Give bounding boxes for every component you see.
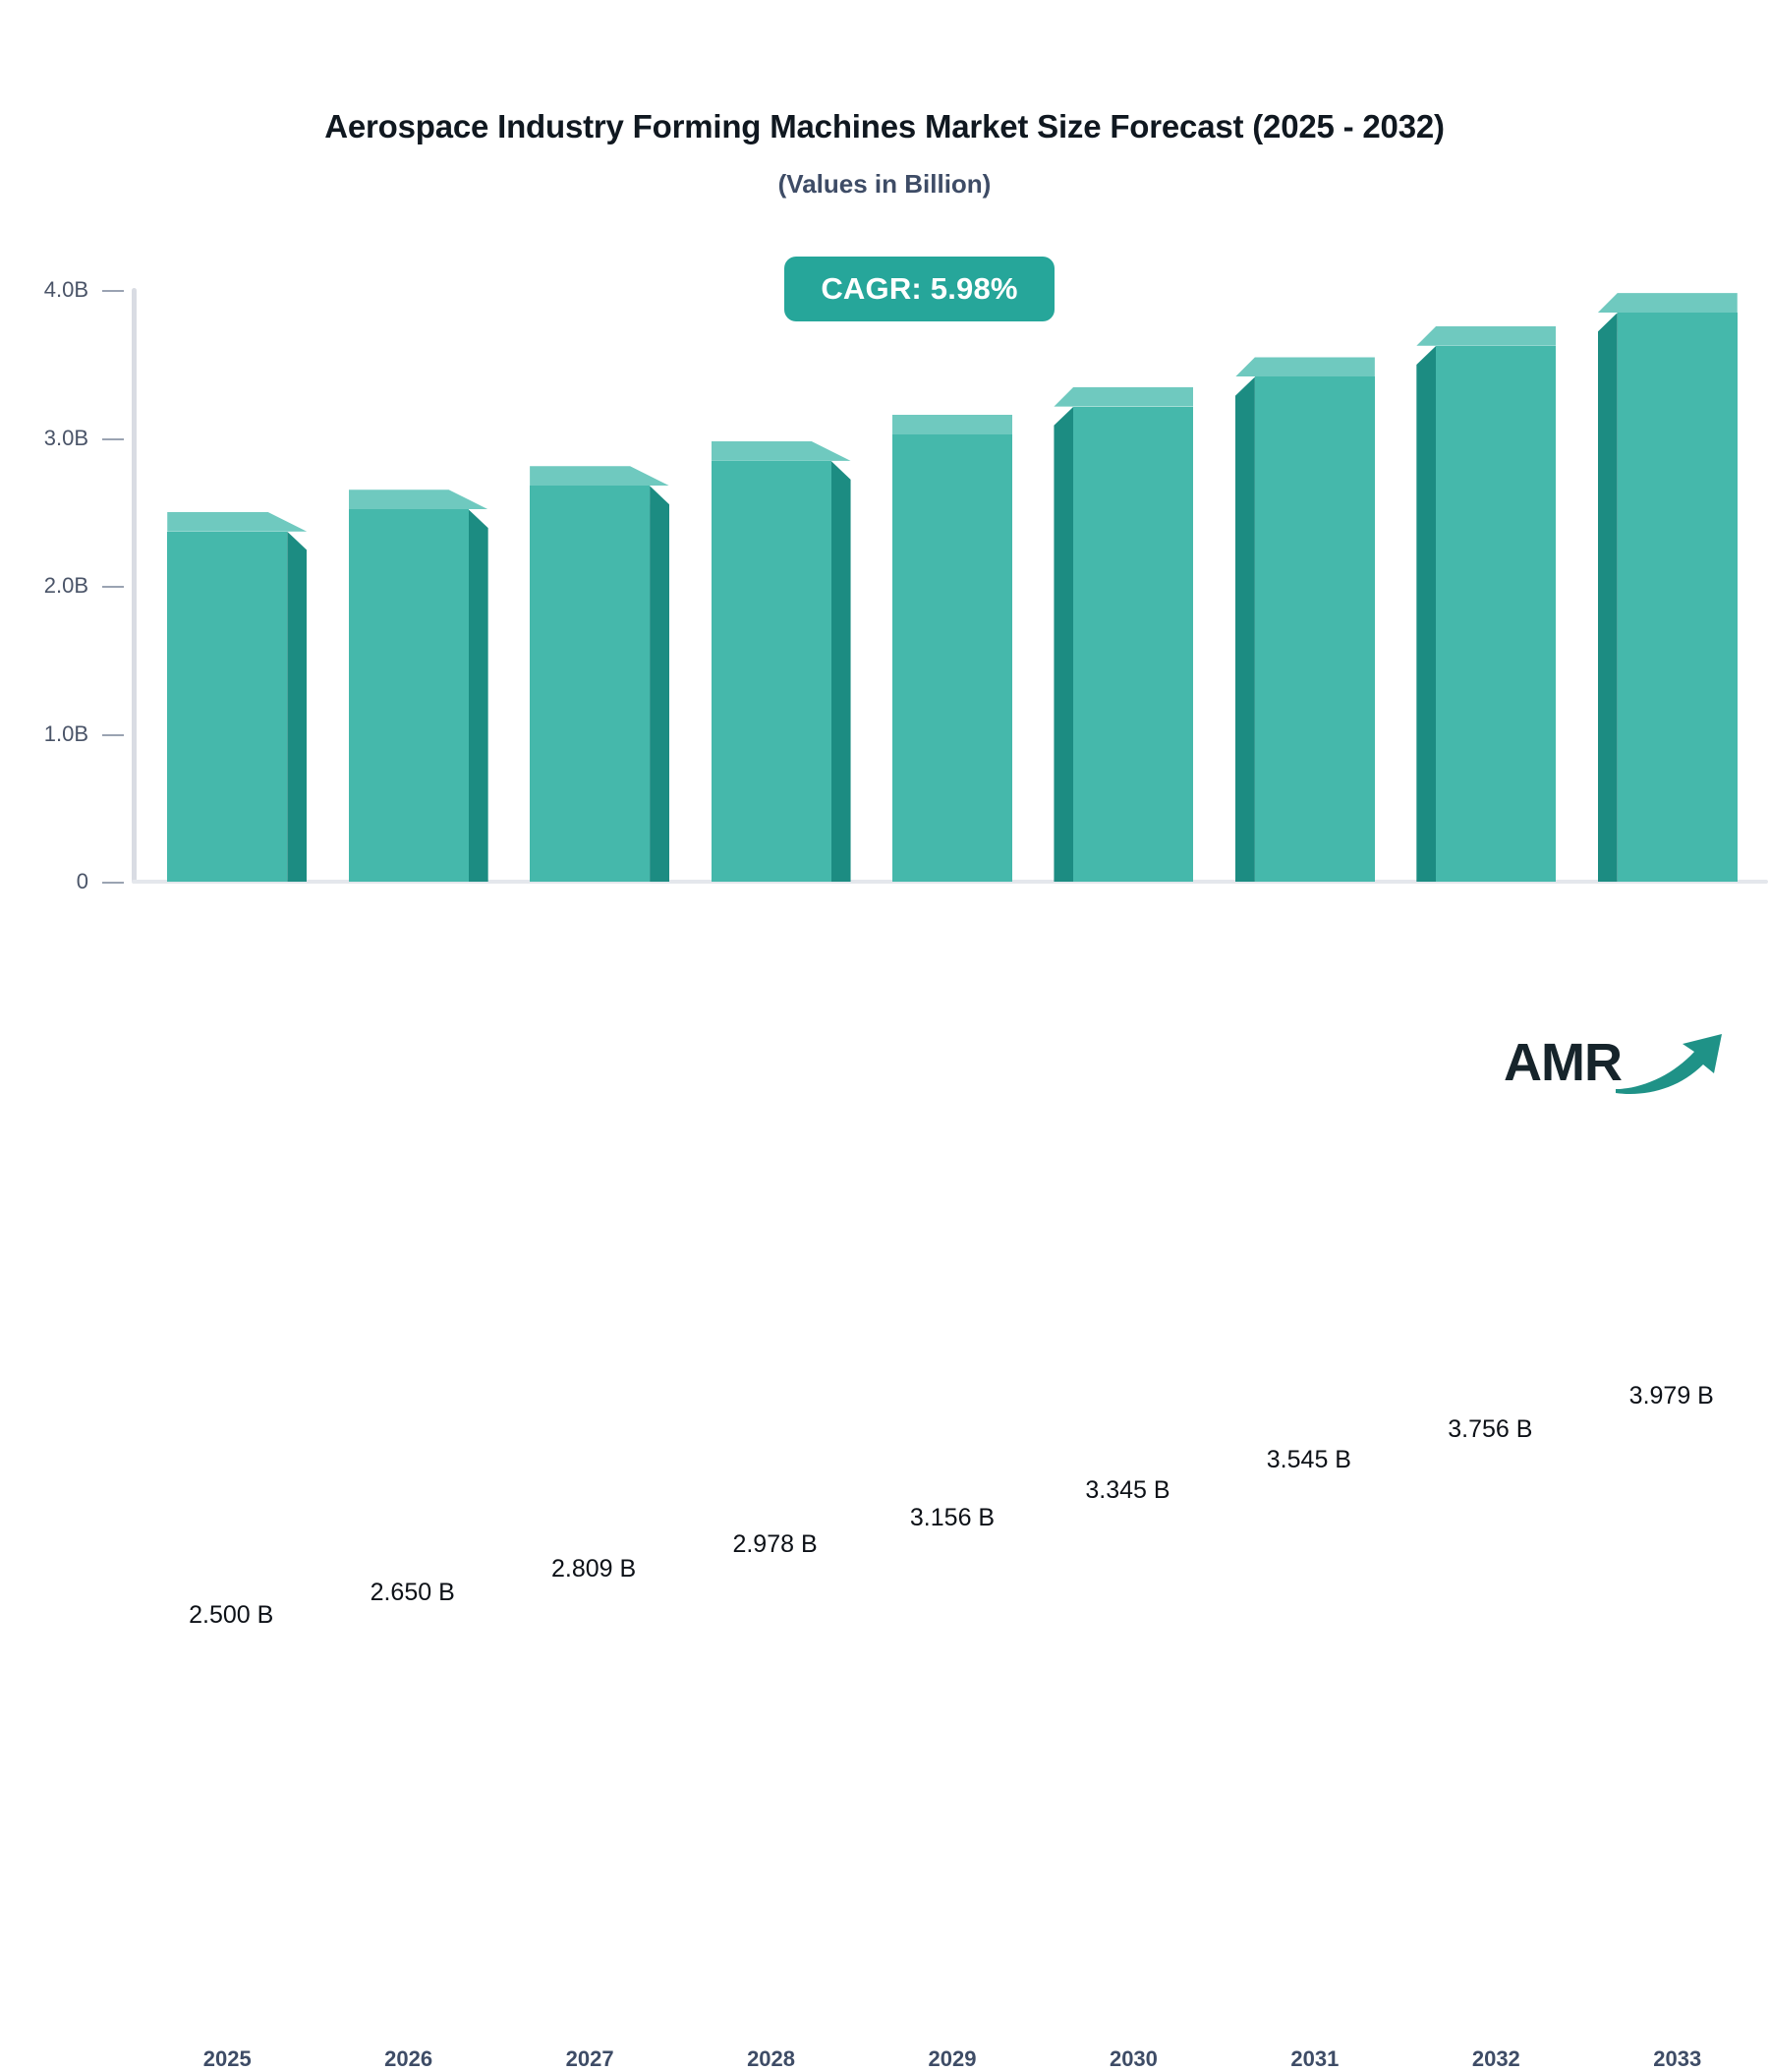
bar-front-face [712, 461, 831, 882]
x-axis-label: 2025 [203, 2046, 252, 2072]
bar-top-face [1235, 357, 1375, 376]
bar-value-label: 2.650 B [371, 1579, 455, 1607]
bar-top-face [167, 512, 307, 532]
x-axis-label: 2029 [929, 2046, 977, 2072]
bar-side-face [1054, 407, 1073, 882]
bar-side-face [1235, 376, 1255, 882]
x-axis-label: 2027 [566, 2046, 614, 2072]
bar-front-face [892, 434, 1012, 882]
bar-side-face [831, 461, 851, 882]
bar-front-face [167, 532, 287, 882]
bar-side-face [650, 486, 669, 882]
bar-front-face [1618, 313, 1738, 882]
bar-front-face [1255, 376, 1375, 882]
bar-top-face [1054, 387, 1193, 407]
x-axis-label: 2033 [1653, 2046, 1701, 2072]
x-axis-label: 2026 [384, 2046, 432, 2072]
bar-series: 2.500 B20252.650 B20262.809 B20272.978 B… [0, 0, 1769, 1136]
bar-value-label: 2.500 B [189, 1601, 273, 1630]
bar-value-label: 3.979 B [1629, 1382, 1714, 1410]
bar-top-face [892, 415, 1012, 434]
chart-root: Aerospace Industry Forming Machines Mark… [0, 0, 1769, 1136]
x-axis-label: 2032 [1472, 2046, 1520, 2072]
x-axis-label: 2028 [747, 2046, 795, 2072]
bar-top-face [1598, 293, 1738, 313]
bar-side-face [287, 532, 307, 882]
bar-side-face [1598, 313, 1618, 882]
bar-side-face [469, 509, 488, 882]
x-axis-label: 2030 [1110, 2046, 1158, 2072]
bar-top-face [349, 489, 488, 509]
amr-logo: AMR [1504, 1022, 1730, 1102]
bar-top-face [712, 441, 851, 461]
bar-top-face [530, 466, 669, 486]
bar-front-face [349, 509, 469, 882]
bar-value-label: 2.809 B [551, 1555, 636, 1583]
bar-front-face [1436, 346, 1556, 882]
logo-text: AMR [1504, 1036, 1622, 1089]
bar-value-label: 3.545 B [1267, 1446, 1351, 1474]
growth-arrow-icon [1612, 1026, 1730, 1102]
bar-value-label: 3.756 B [1448, 1415, 1532, 1444]
bar-top-face [1416, 326, 1556, 346]
bar-front-face [530, 486, 650, 882]
bar-value-label: 2.978 B [732, 1530, 817, 1559]
bar-side-face [1416, 346, 1436, 882]
x-axis-label: 2031 [1290, 2046, 1339, 2072]
bar-front-face [1073, 407, 1193, 882]
bar-value-label: 3.345 B [1085, 1476, 1170, 1505]
bar-value-label: 3.156 B [910, 1504, 995, 1532]
